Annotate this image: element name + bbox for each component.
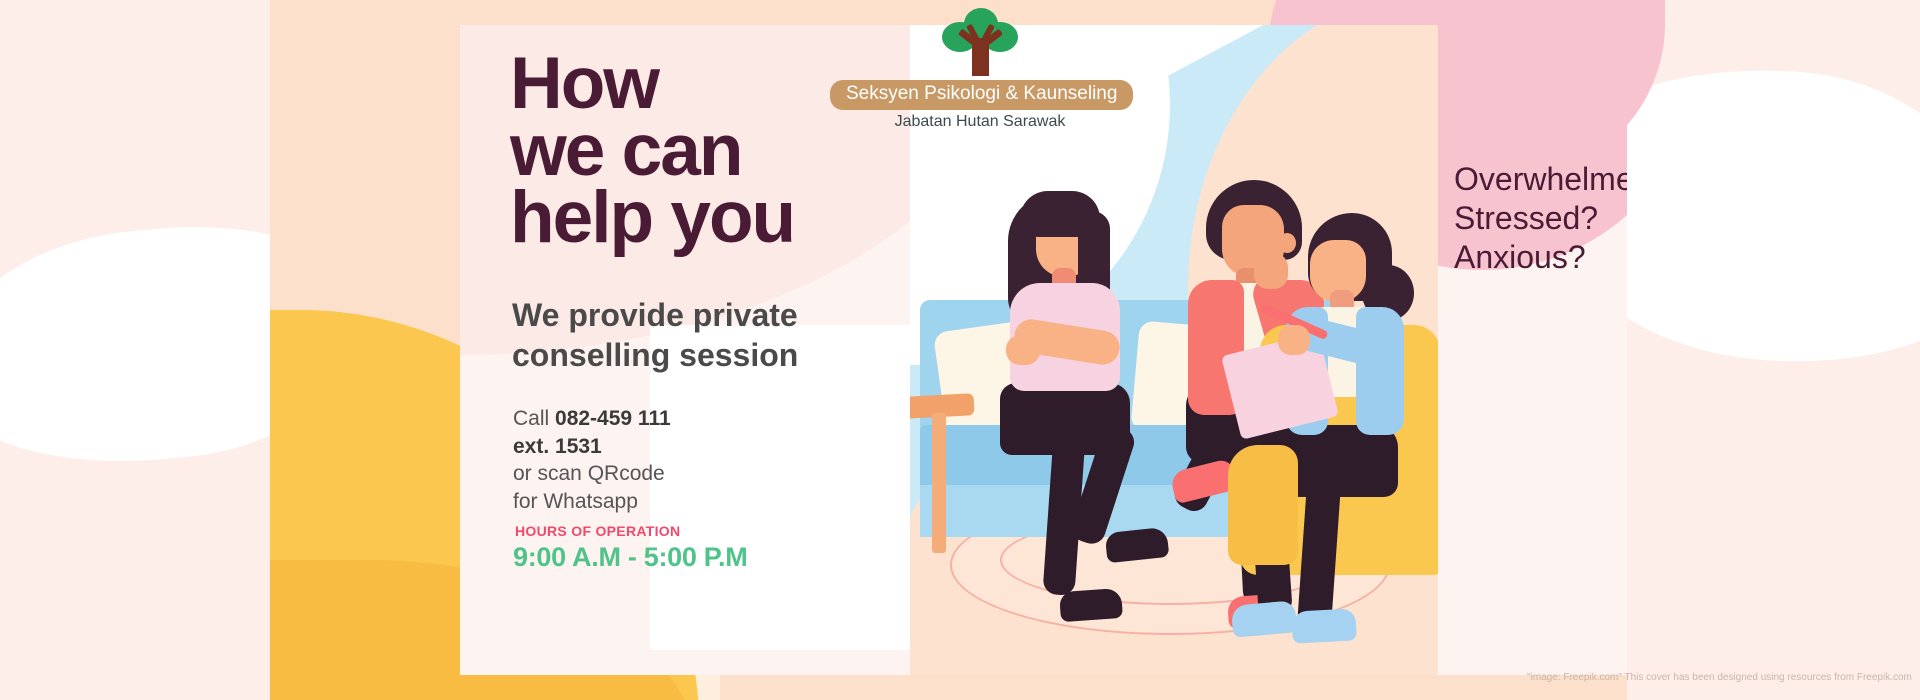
woman-shoe-back xyxy=(1059,588,1123,622)
phone-extension: ext. 1531 xyxy=(513,435,602,458)
hours-of-operation-value: 9:00 A.M - 5:00 P.M xyxy=(513,542,747,573)
questions-text: Overwhelmed? Stressed? Anxious? xyxy=(1454,160,1627,277)
organisation-logo: Seksyen Psikologi & Kaunseling Jabatan H… xyxy=(830,8,1130,131)
counselor-cardigan-right xyxy=(1356,307,1404,435)
subheadline: We provide private conselling session xyxy=(512,295,852,375)
hours-of-operation-label: HOURS OF OPERATION xyxy=(515,523,680,539)
for-whatsapp-line: for Whatsapp xyxy=(513,490,638,513)
logo-department: Jabatan Hutan Sarawak xyxy=(830,113,1130,131)
woman-hand xyxy=(1006,335,1040,365)
man-ear xyxy=(1278,233,1296,253)
contact-block: Call 082-459 111 ext. 1531 or scan QRcod… xyxy=(513,405,823,516)
counselor-shoe-left xyxy=(1231,600,1298,637)
counselor-hand xyxy=(1278,325,1310,355)
armchair-arm xyxy=(1228,445,1298,565)
man-hand-at-chin xyxy=(1254,253,1288,289)
poster-screenshot: How we can help you We provide private c… xyxy=(0,0,1920,700)
freepik-credit: "image: Freepik.com" This cover has been… xyxy=(1527,672,1912,683)
logo-name-pill: Seksyen Psikologi & Kaunseling xyxy=(830,80,1133,110)
phone-number: 082-459 111 xyxy=(555,407,671,430)
scan-qrcode-line: or scan QRcode xyxy=(513,462,665,485)
sofa-leg-left xyxy=(932,413,946,553)
tree-icon xyxy=(942,8,1018,76)
page-title: How we can help you xyxy=(510,50,870,251)
poster-canvas: How we can help you We provide private c… xyxy=(270,0,1627,700)
call-prefix: Call xyxy=(513,407,555,430)
counselor-shoe-right xyxy=(1291,608,1357,643)
